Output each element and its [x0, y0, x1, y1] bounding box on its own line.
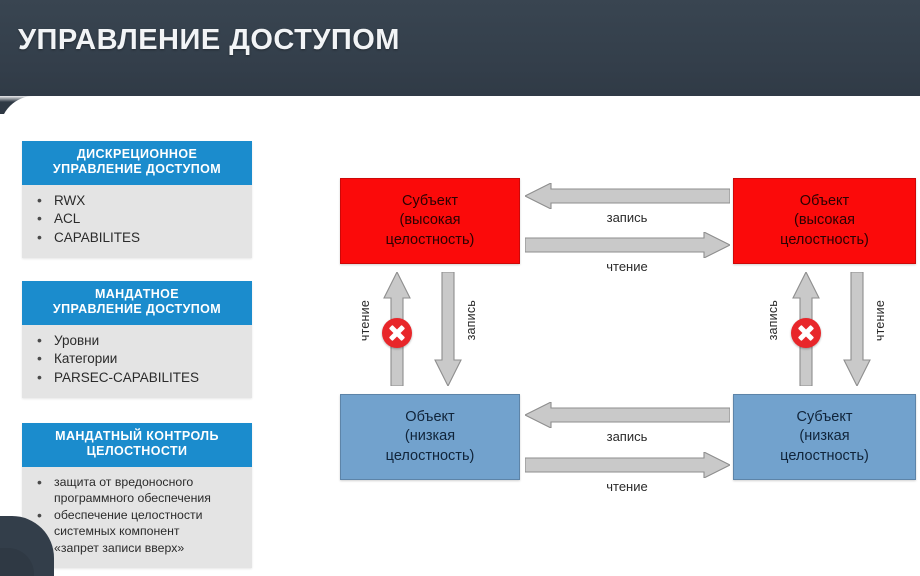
diagram-box-object-low-integrity: Объект (низкая целостность)	[340, 394, 520, 480]
list-item: ACL	[28, 210, 246, 228]
panel-2-body: Уровни Категории PARSEC-CAPABILITES	[22, 325, 252, 399]
arrow-top-write-label: запись	[567, 210, 687, 225]
list-item: обеспечение целостности системных компон…	[28, 507, 246, 539]
panel-mandatory-access: МАНДАТНОЕ УПРАВЛЕНИЕ ДОСТУПОМ Уровни Кат…	[22, 281, 252, 398]
arrow-right-read-down	[843, 272, 871, 391]
list-item: CAPABILITES	[28, 229, 246, 247]
box-bl-line3: целостность)	[386, 447, 475, 467]
list-item: «запрет записи вверх»	[28, 540, 246, 556]
arrow-left-read-label: чтение	[358, 300, 372, 341]
panel-3-heading-line2: ЦЕЛОСТНОСТИ	[30, 444, 244, 459]
arrow-left-write-label: запись	[464, 300, 478, 340]
panel-1-heading-line1: ДИСКРЕЦИОННОЕ	[77, 147, 197, 161]
blocked-x-icon-right	[791, 318, 821, 348]
slide: УПРАВЛЕНИЕ ДОСТУПОМ ДИСКРЕЦИОННОЕ УПРАВЛ…	[0, 0, 920, 576]
arrow-right-read-label: чтение	[873, 300, 887, 341]
panel-1-list: RWX ACL CAPABILITES	[28, 192, 246, 248]
arrow-top-read-label: чтение	[567, 259, 687, 274]
panel-1-heading-line2: УПРАВЛЕНИЕ ДОСТУПОМ	[30, 162, 244, 177]
box-tl-line1: Субъект	[402, 192, 458, 212]
blocked-x-icon-left	[382, 318, 412, 348]
list-item: Категории	[28, 350, 246, 368]
panel-2-heading-line2: УПРАВЛЕНИЕ ДОСТУПОМ	[30, 302, 244, 317]
box-br-line1: Субъект	[797, 408, 853, 428]
panel-3-list: защита от вредоносного программного обес…	[28, 474, 246, 557]
box-bl-line2: (низкая	[405, 427, 455, 447]
box-tl-line2: (высокая	[399, 211, 460, 231]
arrow-left-write-down	[434, 272, 462, 391]
box-tl-line3: целостность)	[386, 231, 475, 251]
panel-1-body: RWX ACL CAPABILITES	[22, 185, 252, 259]
list-item: RWX	[28, 192, 246, 210]
list-item: PARSEC-CAPABILITES	[28, 369, 246, 387]
box-br-line3: целостность)	[780, 447, 869, 467]
list-item: защита от вредоносного программного обес…	[28, 474, 246, 506]
panel-mandatory-integrity-control: МАНДАТНЫЙ КОНТРОЛЬ ЦЕЛОСТНОСТИ защита от…	[22, 423, 252, 568]
sheet-highlight	[0, 96, 920, 102]
panel-3-body: защита от вредоносного программного обес…	[22, 467, 252, 568]
box-tr-line2: (высокая	[794, 211, 855, 231]
box-tr-line3: целостность)	[780, 231, 869, 251]
page-title: УПРАВЛЕНИЕ ДОСТУПОМ	[18, 24, 400, 57]
panel-3-heading: МАНДАТНЫЙ КОНТРОЛЬ ЦЕЛОСТНОСТИ	[22, 423, 252, 467]
box-br-line2: (низкая	[799, 427, 849, 447]
panel-1-heading: ДИСКРЕЦИОННОЕ УПРАВЛЕНИЕ ДОСТУПОМ	[22, 141, 252, 185]
box-tr-line1: Объект	[800, 192, 849, 212]
arrow-bottom-write-label: запись	[567, 429, 687, 444]
panel-discretionary-access: ДИСКРЕЦИОННОЕ УПРАВЛЕНИЕ ДОСТУПОМ RWX AC…	[22, 141, 252, 258]
list-item: Уровни	[28, 332, 246, 350]
panel-2-heading-line1: МАНДАТНОЕ	[95, 287, 179, 301]
diagram-box-subject-high-integrity: Субъект (высокая целостность)	[340, 178, 520, 264]
diagram-box-object-high-integrity: Объект (высокая целостность)	[733, 178, 916, 264]
panel-2-heading: МАНДАТНОЕ УПРАВЛЕНИЕ ДОСТУПОМ	[22, 281, 252, 325]
arrow-right-write-label: запись	[766, 300, 780, 340]
panel-2-list: Уровни Категории PARSEC-CAPABILITES	[28, 332, 246, 388]
box-bl-line1: Объект	[405, 408, 454, 428]
diagram-box-subject-low-integrity: Субъект (низкая целостность)	[733, 394, 916, 480]
arrow-bottom-read-label: чтение	[567, 479, 687, 494]
panel-3-heading-line1: МАНДАТНЫЙ КОНТРОЛЬ	[55, 429, 219, 443]
